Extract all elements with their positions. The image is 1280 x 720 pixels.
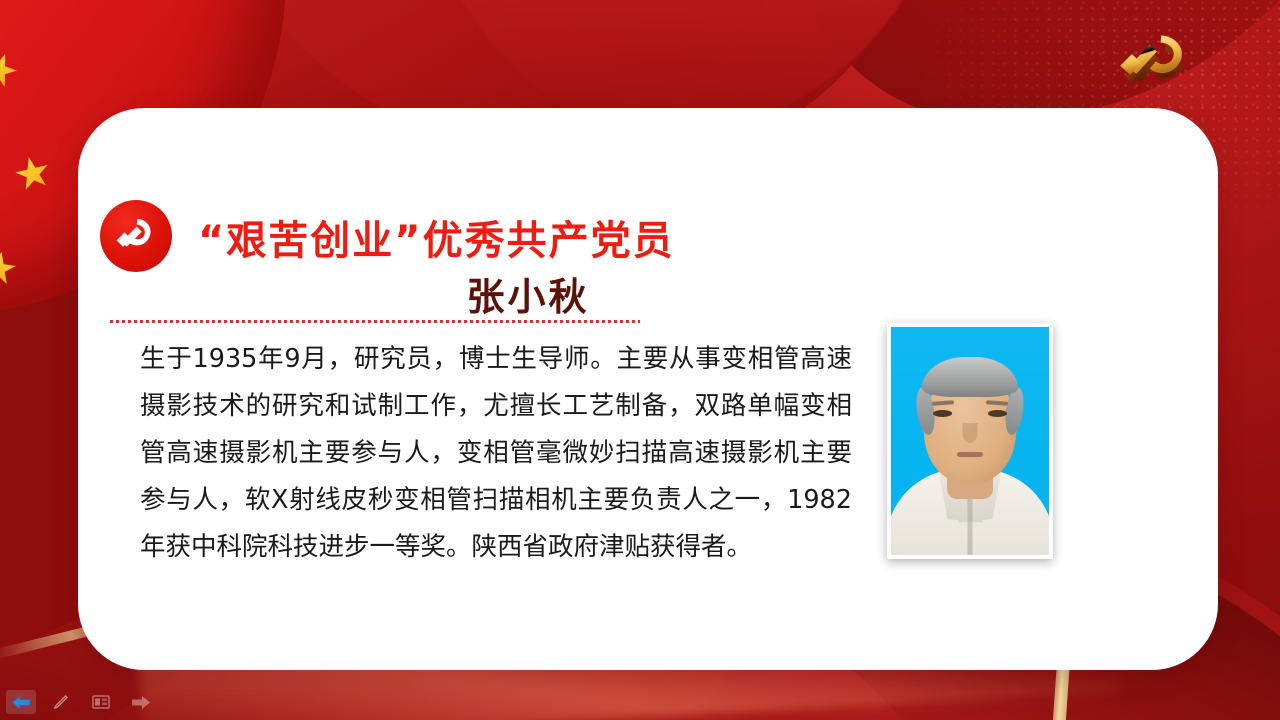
page-title: “艰苦创业”优秀共产党员 <box>198 208 978 266</box>
portrait-eye-right <box>988 410 1007 417</box>
previous-slide-button[interactable] <box>6 690 36 714</box>
content-card: “艰苦创业”优秀共产党员 张小秋 生于1935年9月，研究员，博士生导师。主要从… <box>78 108 1218 670</box>
biography-paragraph: 生于1935年9月，研究员，博士生导师。主要从事变相管高速摄影技术的研究和试制工… <box>140 336 852 571</box>
portrait-nose <box>963 423 978 443</box>
pen-tool-button[interactable] <box>46 690 76 714</box>
slides-grid-icon <box>92 695 110 709</box>
portrait-mouth <box>957 452 983 457</box>
all-slides-button[interactable] <box>86 690 116 714</box>
presentation-slide: “艰苦创业”优秀共产党员 张小秋 生于1935年9月，研究员，博士生导师。主要从… <box>0 0 1280 720</box>
portrait-image <box>891 327 1049 555</box>
slideshow-toolbar[interactable] <box>6 688 156 716</box>
hammer-sickle-icon <box>100 200 172 272</box>
person-name: 张小秋 <box>198 266 858 321</box>
next-slide-button[interactable] <box>126 690 156 714</box>
dotted-divider <box>110 320 640 323</box>
biography-text: 生于1935年9月，研究员，博士生导师。主要从事变相管高速摄影技术的研究和试制工… <box>140 336 852 571</box>
portrait-eye-left <box>933 410 952 417</box>
arrow-left-icon <box>11 695 31 710</box>
flag-star-small-3 <box>12 153 53 194</box>
party-emblem-gold-icon <box>1110 30 1202 98</box>
pen-icon <box>52 693 70 711</box>
arrow-right-icon <box>131 695 151 710</box>
portrait-hair-top <box>922 357 1018 397</box>
flag-star-small-4 <box>0 249 18 288</box>
portrait-placket <box>968 493 973 555</box>
flag-star-small-2 <box>0 48 21 91</box>
portrait-photo <box>887 323 1053 559</box>
